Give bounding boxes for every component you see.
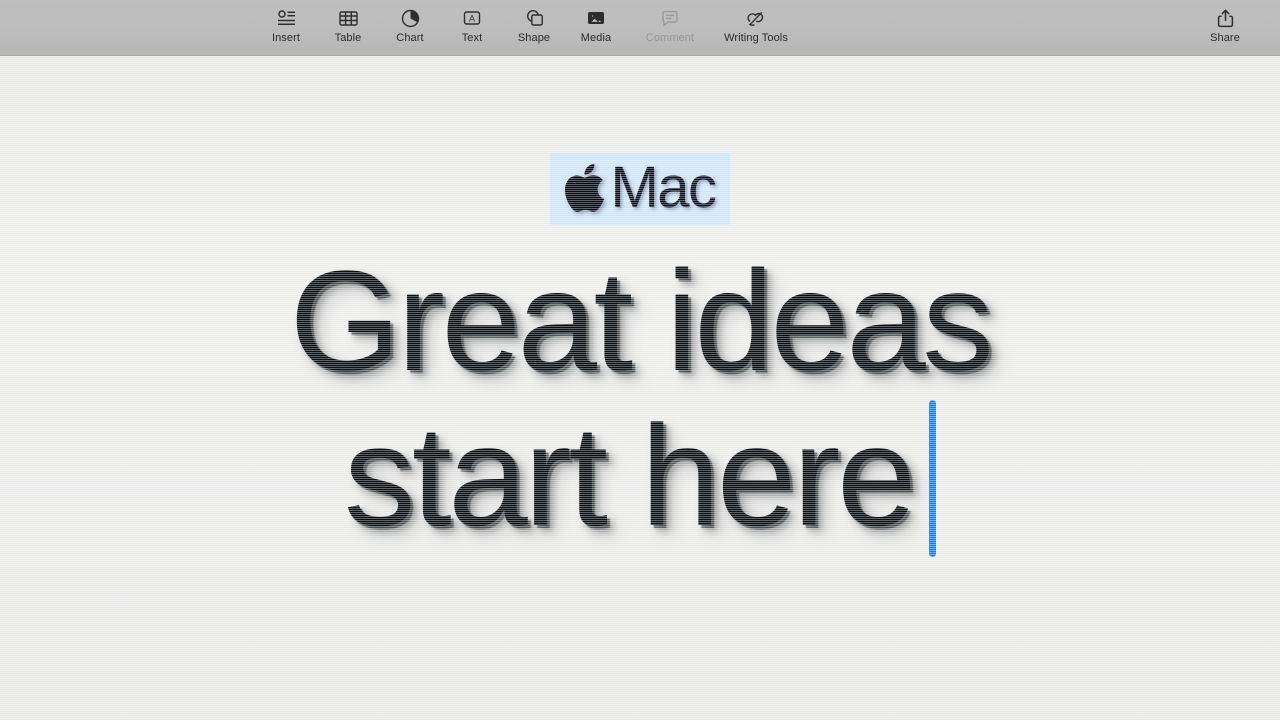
chart-icon xyxy=(401,7,420,29)
text-cursor-caret xyxy=(929,400,936,557)
app-toolbar: Insert Table Chart xyxy=(0,0,1280,56)
document-canvas[interactable]: Mac Great ideas start here xyxy=(0,56,1280,720)
toolbar-label-writing-tools: Writing Tools xyxy=(724,32,788,45)
headline-text-block[interactable]: Great ideas start here xyxy=(0,246,1280,555)
text-icon: A xyxy=(462,7,482,29)
toolbar-button-insert[interactable]: Insert xyxy=(255,7,317,45)
insert-icon xyxy=(277,7,296,29)
share-icon xyxy=(1217,7,1234,29)
toolbar-main-group: Insert Table Chart xyxy=(255,7,799,45)
toolbar-button-shape[interactable]: Shape xyxy=(503,7,565,45)
media-icon xyxy=(586,7,606,29)
toolbar-label-table: Table xyxy=(335,32,362,45)
writing-tools-icon xyxy=(746,7,766,29)
comment-icon xyxy=(661,7,679,29)
table-icon xyxy=(339,7,358,29)
logo-row: Mac xyxy=(0,153,1280,225)
toolbar-button-table[interactable]: Table xyxy=(317,7,379,45)
headline-line-2-row: start here xyxy=(0,398,1280,555)
toolbar-label-share: Share xyxy=(1210,32,1240,45)
toolbar-label-insert: Insert xyxy=(272,32,300,45)
toolbar-label-media: Media xyxy=(581,32,611,45)
toolbar-button-media[interactable]: Media xyxy=(565,7,627,45)
headline-line-2-inner: start here xyxy=(344,398,936,555)
headline-line-1: Great ideas xyxy=(0,246,1280,398)
toolbar-label-comment: Comment xyxy=(646,32,694,45)
logo-word-mac: Mac xyxy=(610,159,715,217)
toolbar-label-chart: Chart xyxy=(396,32,423,45)
toolbar-label-shape: Shape xyxy=(518,32,550,45)
slide-content: Mac Great ideas start here xyxy=(0,56,1280,720)
headline-line-2: start here xyxy=(344,401,913,553)
apple-logo-icon xyxy=(562,162,606,214)
mac-logo-lockup-selected[interactable]: Mac xyxy=(550,153,729,225)
toolbar-button-comment[interactable]: Comment xyxy=(627,7,713,45)
toolbar-button-writing-tools[interactable]: Writing Tools xyxy=(713,7,799,45)
shape-icon xyxy=(525,7,544,29)
toolbar-button-text[interactable]: A Text xyxy=(441,7,503,45)
svg-text:A: A xyxy=(469,14,475,24)
toolbar-label-text: Text xyxy=(462,32,483,45)
toolbar-button-chart[interactable]: Chart xyxy=(379,7,441,45)
toolbar-right-group: Share xyxy=(1194,7,1256,45)
toolbar-button-share[interactable]: Share xyxy=(1194,7,1256,45)
